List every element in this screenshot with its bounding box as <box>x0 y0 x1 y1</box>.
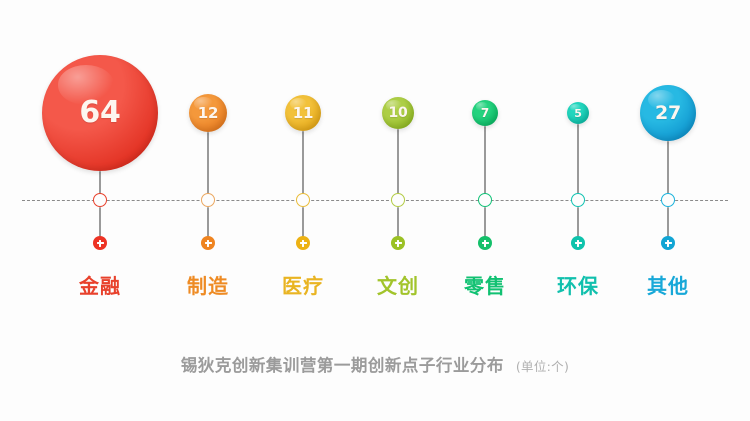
chart-caption: 锡狄克创新集训营第一期创新点子行业分布(单位:个) <box>0 352 750 376</box>
axis-node-circle[interactable] <box>201 193 215 207</box>
bubble-value: 27 <box>655 104 681 123</box>
value-bubble[interactable]: 5 <box>567 102 589 124</box>
value-bubble[interactable]: 12 <box>189 94 227 132</box>
caption-unit: (单位:个) <box>516 359 569 374</box>
caption-title: 锡狄克创新集训营第一期创新点子行业分布 <box>181 356 504 375</box>
value-bubble[interactable]: 64 <box>42 55 158 171</box>
plus-bar-vertical <box>667 240 669 247</box>
bubble-value: 12 <box>198 106 218 121</box>
connector-stem-lower <box>667 207 669 237</box>
bubble-value: 10 <box>388 106 407 120</box>
connector-stem-lower <box>397 207 399 237</box>
plus-bar-vertical <box>577 240 579 247</box>
value-bubble[interactable]: 27 <box>640 85 696 141</box>
infographic-canvas: 64金融12制造11医疗10文创7零售5环保27其他 锡狄克创新集训营第一期创新… <box>0 0 750 421</box>
bubble-value: 64 <box>79 98 120 128</box>
axis-node-circle[interactable] <box>391 193 405 207</box>
connector-stem <box>302 131 304 195</box>
category-label: 金融 <box>40 270 160 299</box>
connector-stem-lower <box>99 207 101 237</box>
plus-bar-vertical <box>99 240 101 247</box>
connector-stem-lower <box>207 207 209 237</box>
plus-bar-vertical <box>207 240 209 247</box>
plus-icon[interactable] <box>93 236 107 250</box>
axis-node-circle[interactable] <box>661 193 675 207</box>
connector-stem <box>484 126 486 195</box>
plus-icon[interactable] <box>296 236 310 250</box>
value-bubble[interactable]: 7 <box>472 100 498 126</box>
axis-node-circle[interactable] <box>571 193 585 207</box>
bubble-value: 11 <box>293 106 313 121</box>
category-label: 其他 <box>608 270 728 299</box>
bubble-value: 5 <box>574 108 581 119</box>
plus-icon[interactable] <box>201 236 215 250</box>
plus-icon[interactable] <box>391 236 405 250</box>
plus-icon[interactable] <box>571 236 585 250</box>
connector-stem <box>577 124 579 195</box>
plus-bar-vertical <box>397 240 399 247</box>
axis-node-circle[interactable] <box>296 193 310 207</box>
axis-node-circle[interactable] <box>93 193 107 207</box>
connector-stem <box>397 129 399 195</box>
plus-icon[interactable] <box>661 236 675 250</box>
connector-stem <box>207 132 209 195</box>
value-bubble[interactable]: 10 <box>382 97 414 129</box>
connector-stem <box>99 171 101 195</box>
axis-node-circle[interactable] <box>478 193 492 207</box>
plus-icon[interactable] <box>478 236 492 250</box>
connector-stem-lower <box>484 207 486 237</box>
connector-stem <box>667 141 669 195</box>
plus-bar-vertical <box>484 240 486 247</box>
bubble-value: 7 <box>481 107 489 119</box>
plus-bar-vertical <box>302 240 304 247</box>
connector-stem-lower <box>577 207 579 237</box>
connector-stem-lower <box>302 207 304 237</box>
baseline-axis <box>22 200 728 201</box>
value-bubble[interactable]: 11 <box>285 95 321 131</box>
